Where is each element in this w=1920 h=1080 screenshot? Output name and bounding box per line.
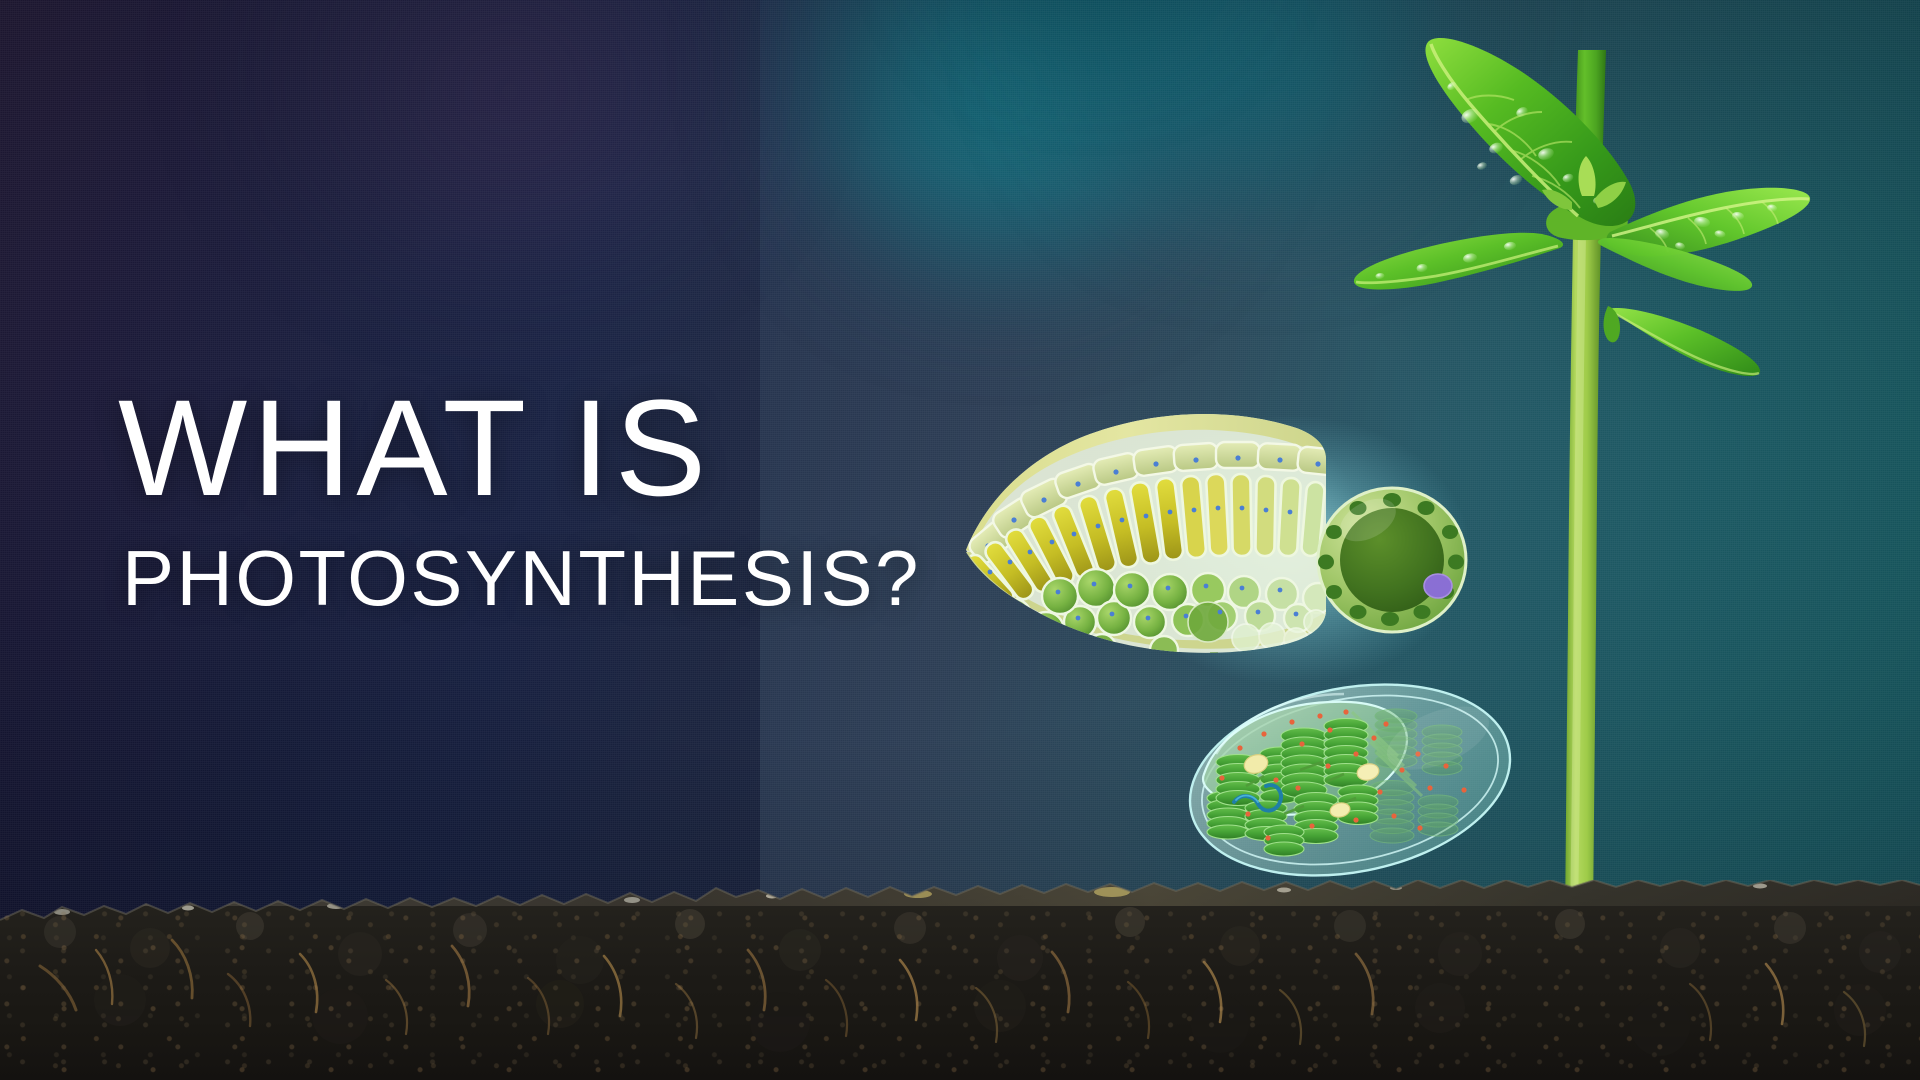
leaf-lower-right [1607,308,1760,376]
title-line-1: WHAT IS [118,380,921,517]
soil-cross-section [0,880,1920,1080]
seedling-illustration [1310,20,1920,970]
hero-banner: WHAT IS PHOTOSYNTHESIS? [0,0,1920,1080]
page-title: WHAT IS PHOTOSYNTHESIS? [118,380,921,617]
title-line-2: PHOTOSYNTHESIS? [122,539,921,617]
